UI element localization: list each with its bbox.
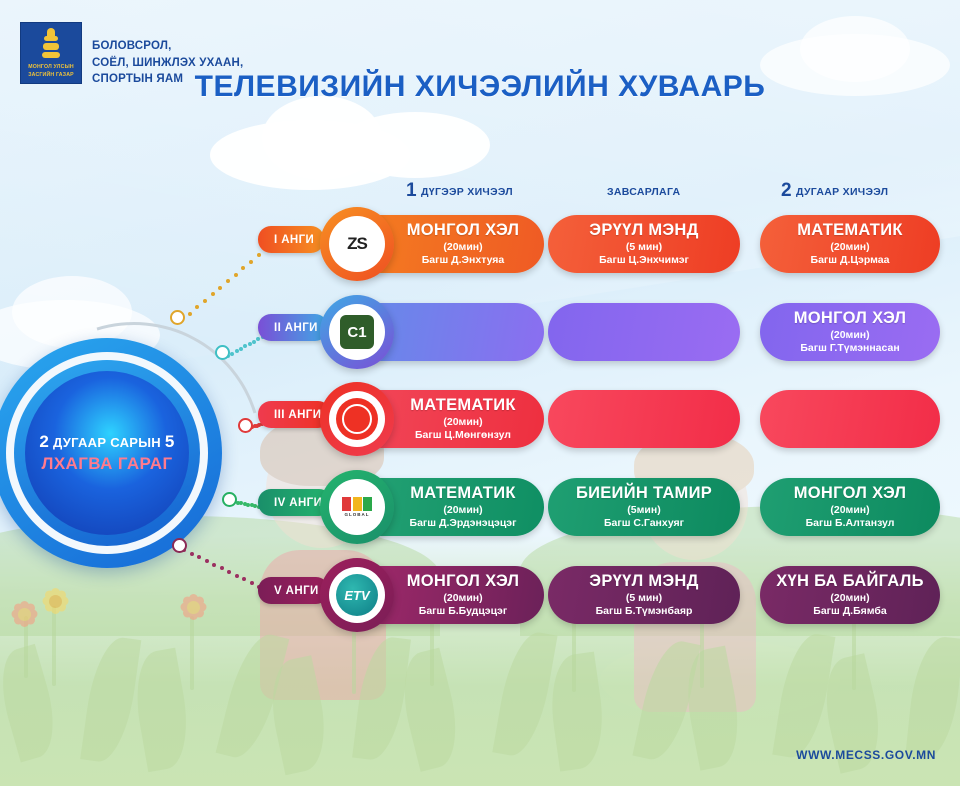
date-text: 2 ДУГААР САРЫН 5 — [39, 432, 174, 452]
page-title: ТЕЛЕВИЗИЙН ХИЧЭЭЛИЙН ХУВААРЬ — [0, 70, 960, 104]
channel-logo-3[interactable] — [320, 382, 394, 456]
column-label: ЗАВСАРЛАГА — [607, 186, 680, 198]
channel-logo-1[interactable]: ZS — [320, 207, 394, 281]
connector-dot — [203, 299, 207, 303]
column-number: 1 — [406, 180, 417, 201]
flower-shape — [2, 592, 46, 636]
teacher-name: Багш Д.Цэрмаа — [811, 255, 890, 266]
lesson-cell[interactable]: МОНГОЛ ХЭЛ(20мин)Багш Б.Алтанзул — [760, 478, 940, 536]
connector-dot — [218, 286, 222, 290]
teacher-name: Багш Б.Будцэцэг — [419, 606, 507, 617]
date-badge: 2 ДУГААР САРЫН 5 ЛХАГВА ГАРАГ — [0, 338, 222, 568]
day-number: 5 — [165, 432, 175, 451]
connector-dot — [212, 563, 216, 567]
teacher-name: Багш Д.Бямба — [813, 606, 886, 617]
duration-text: (20мин) — [830, 593, 869, 604]
column-label: ДҮГЭЭР ХИЧЭЭЛ — [421, 186, 513, 198]
duration-text: (5 мин) — [626, 242, 662, 253]
lesson-cell[interactable]: БИЕИЙН ТАМИР(5мин)Багш С.Ганхуяг — [548, 478, 740, 536]
zs-tv-icon: ZS — [336, 223, 378, 265]
column-header-lesson1: 1 ДҮГЭЭР ХИЧЭЭЛ — [406, 180, 513, 202]
connector-ring-marker — [172, 538, 187, 553]
lesson-cell[interactable]: ЭРҮҮЛ МЭНД(5 мин)Багш Ц.Энхчимэг — [548, 215, 740, 273]
grade-label-2[interactable]: II АНГИ — [258, 314, 328, 341]
lesson-cell[interactable] — [548, 390, 740, 448]
flower-shape — [166, 580, 220, 634]
schedule-row: IV АНГИGLOBALМАТЕМАТИК(20мин)Багш Д.Эрдэ… — [258, 476, 948, 538]
lesson-cell[interactable]: ЭРҮҮЛ МЭНД(5 мин)Багш Б.Түмэнбаяр — [548, 566, 740, 624]
month-word: ДУГААР САРЫН — [53, 435, 161, 450]
subject-name: БИЕИЙН ТАМИР — [576, 485, 712, 502]
duration-text: (5мин) — [627, 505, 660, 516]
duration-text: (20мин) — [830, 330, 869, 341]
ubs-global-icon: GLOBAL — [336, 486, 378, 528]
infographic-canvas: МОНГОЛ УЛСЫН ЗАСГИЙН ГАЗАР БОЛОВСРОЛ, СО… — [0, 0, 960, 786]
duration-text: (20мин) — [830, 505, 869, 516]
connector-dot — [188, 312, 192, 316]
subject-name: ЭРҮҮЛ МЭНД — [589, 573, 698, 590]
teacher-name: Багш Б.Түмэнбаяр — [596, 606, 693, 617]
etv-icon: ETV — [336, 574, 378, 616]
footer-url: WWW.MECSS.GOV.MN — [796, 748, 936, 762]
schedule-row: I АНГИZSМОНГОЛ ХЭЛ(20мин)Багш Д.ЭнхтуяаЭ… — [258, 213, 948, 275]
duration-text: (20мин) — [443, 505, 482, 516]
subject-name: МАТЕМАТИК — [797, 222, 902, 239]
subject-name: МОНГОЛ ХЭЛ — [794, 310, 907, 327]
connector-dot — [234, 273, 238, 277]
connector-dot — [239, 347, 243, 351]
duration-text: (5 мин) — [626, 593, 662, 604]
teacher-name: Багш С.Ганхуяг — [604, 518, 684, 529]
connector-ring-marker — [215, 345, 230, 360]
schedule-row: III АНГИМАТЕМАТИК(20мин)Багш Ц.Мөнгөнзул — [258, 388, 948, 450]
connector-dot — [211, 292, 215, 296]
schedule-row: II АНГИC1МОНГОЛ ХЭЛ(20мин)Багш Г.Түмэнна… — [258, 301, 948, 363]
subject-name: МАТЕМАТИК — [410, 485, 515, 502]
grade-label-1[interactable]: I АНГИ — [258, 226, 324, 253]
connector-dot — [220, 566, 224, 570]
connector-ring-marker — [170, 310, 185, 325]
subject-name: МОНГОЛ ХЭЛ — [407, 222, 520, 239]
connector-dot — [250, 581, 254, 585]
duration-text: (20мин) — [443, 242, 482, 253]
teacher-name: Багш Ц.Мөнгөнзул — [415, 430, 511, 441]
schedule-row: V АНГИETVМОНГОЛ ХЭЛ(20мин)Багш Б.Будцэцэ… — [258, 564, 948, 626]
lesson-cell[interactable] — [548, 303, 740, 361]
connector-dot — [205, 559, 209, 563]
cloud-shape — [340, 112, 490, 178]
c1-tv-icon: C1 — [340, 315, 374, 349]
connector-dot — [235, 574, 239, 578]
connector-dot — [226, 279, 230, 283]
teacher-name: Багш Д.Энхтуяа — [422, 255, 505, 266]
teacher-name: Багш Б.Алтанзул — [806, 518, 895, 529]
lesson-cell[interactable]: ХҮН БА БАЙГАЛЬ(20мин)Багш Д.Бямба — [760, 566, 940, 624]
duration-text: (20мин) — [443, 593, 482, 604]
weekday-text: ЛХАГВА ГАРАГ — [41, 454, 172, 474]
subject-name: МОНГОЛ ХЭЛ — [407, 573, 520, 590]
column-header-break: ЗАВСАРЛАГА — [607, 182, 680, 200]
soyombo-icon — [40, 28, 62, 62]
subject-name: МАТЕМАТИК — [410, 397, 515, 414]
connector-dot — [230, 352, 234, 356]
subject-name: ХҮН БА БАЙГАЛЬ — [776, 573, 924, 590]
connector-dot — [227, 570, 231, 574]
connector-dot — [248, 342, 252, 346]
column-number: 2 — [781, 180, 792, 201]
connector-dot — [235, 349, 239, 353]
column-label: ДУГААР ХИЧЭЭЛ — [796, 186, 888, 198]
teacher-name: Багш Ц.Энхчимэг — [599, 255, 689, 266]
grade-label-5[interactable]: V АНГИ — [258, 577, 329, 604]
lesson-cell[interactable]: МОНГОЛ ХЭЛ(20мин)Багш Г.Түмэннасан — [760, 303, 940, 361]
duration-text: (20мин) — [830, 242, 869, 253]
subject-name: ЭРҮҮЛ МЭНД — [589, 222, 698, 239]
channel-logo-2[interactable]: C1 — [320, 295, 394, 369]
lesson-cell[interactable] — [760, 390, 940, 448]
tv5-icon — [336, 398, 378, 440]
column-header-lesson2: 2 ДУГААР ХИЧЭЭЛ — [781, 180, 888, 202]
duration-text: (20мин) — [443, 417, 482, 428]
connector-dot — [190, 552, 194, 556]
connector-ring-marker — [222, 492, 237, 507]
connector-dot — [249, 260, 253, 264]
subject-name: МОНГОЛ ХЭЛ — [794, 485, 907, 502]
connector-ring-marker — [238, 418, 253, 433]
channel-logo-5[interactable]: ETV — [320, 558, 394, 632]
teacher-name: Багш Д.Эрдэнэцэцэг — [410, 518, 517, 529]
channel-logo-4[interactable]: GLOBAL — [320, 470, 394, 544]
lesson-cell[interactable]: МАТЕМАТИК(20мин)Багш Д.Цэрмаа — [760, 215, 940, 273]
teacher-name: Багш Г.Түмэннасан — [800, 343, 899, 354]
month-number: 2 — [39, 432, 49, 451]
